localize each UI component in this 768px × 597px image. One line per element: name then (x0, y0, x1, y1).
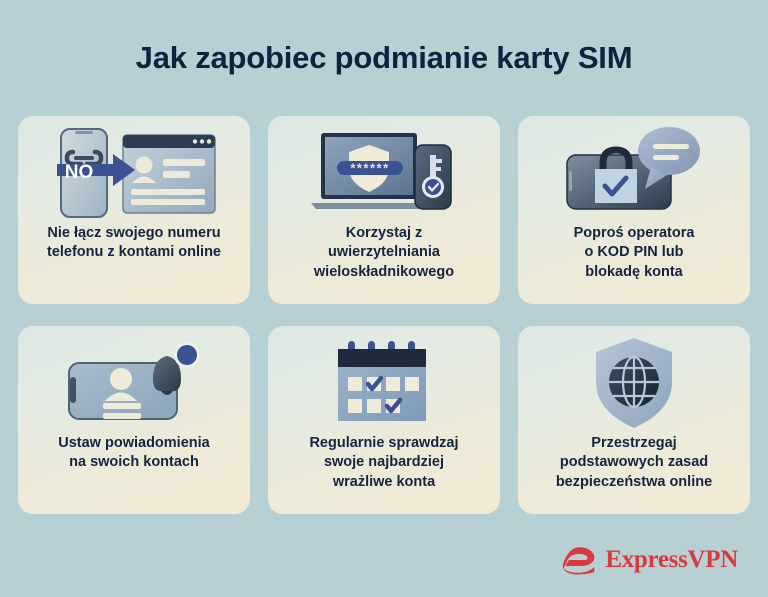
page-title: Jak zapobiec podmianie karty SIM (0, 0, 768, 73)
card-notifications: Ustaw powiadomienia na swoich kontach (18, 326, 250, 514)
profile-card-bell-notification-icon (18, 326, 250, 434)
phone-padlock-chat-bubble-icon (518, 116, 750, 224)
tips-grid: NO Nie łącz swojego numeru telefonu z ko… (18, 116, 750, 514)
card-online-safety: Przestrzegaj podstawowych zasad bezpiecz… (518, 326, 750, 514)
card-pin-code: Poproś operatora o KOD PIN lub blokadę k… (518, 116, 750, 304)
card-label: Poproś operatora o KOD PIN lub blokadę k… (518, 224, 750, 304)
calendar-checkmarks-icon (268, 326, 500, 434)
card-label: Korzystaj z uwierzytelniania wieloskładn… (268, 224, 500, 304)
card-label: Regularnie sprawdzaj swoje najbardziej w… (268, 434, 500, 514)
shield-globe-icon (518, 326, 750, 434)
card-label: Przestrzegaj podstawowych zasad bezpiecz… (518, 434, 750, 514)
expressvpn-e-mark-icon (562, 545, 596, 575)
card-no-link-phone: NO Nie łącz swojego numeru telefonu z ko… (18, 116, 250, 304)
card-mfa: ****** Korzystaj z uwierzytelniania wiel… (268, 116, 500, 304)
card-label: Ustaw powiadomienia na swoich kontach (18, 434, 250, 514)
card-check-accounts: Regularnie sprawdzaj swoje najbardziej w… (268, 326, 500, 514)
card-label: Nie łącz swojego numeru telefonu z konta… (18, 224, 250, 304)
expressvpn-wordmark: ExpressVPN (605, 546, 738, 574)
expressvpn-logo: ExpressVPN (562, 545, 738, 575)
laptop-shield-password-phone-key-icon: ****** (268, 116, 500, 224)
no-badge-label: NO (65, 162, 94, 183)
phone-broken-link-to-browser-icon: NO (18, 116, 250, 224)
password-mask-label: ****** (350, 161, 389, 176)
